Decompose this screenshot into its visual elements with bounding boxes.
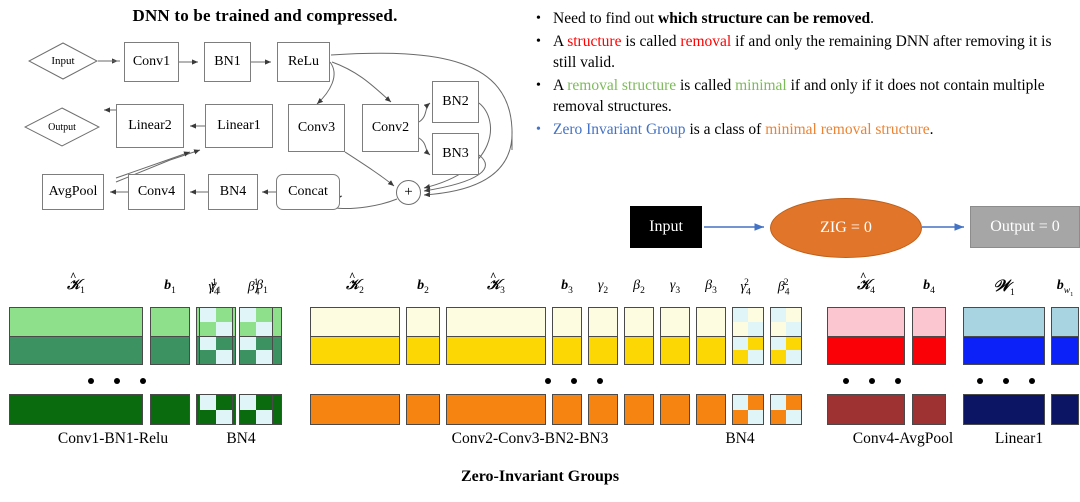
zig-block-half	[240, 336, 272, 365]
zig-block-half	[311, 336, 399, 365]
checker-cell	[256, 410, 272, 425]
checker-cell	[733, 308, 748, 322]
checker-cell	[256, 308, 272, 322]
zig-block-top[interactable]	[827, 307, 905, 365]
block-header-label: b1	[150, 278, 190, 296]
block-header-label: γ42	[732, 278, 764, 297]
zig-block-bottom[interactable]	[310, 394, 400, 425]
block-header-label: ^𝒦4	[827, 278, 905, 296]
zig-block-half	[151, 308, 189, 336]
zig-block-panel: ^𝒦1b1γ1β1Conv1-BN1-Reluγ41β41BN4^𝒦2b2^𝒦3…	[0, 0, 1080, 502]
checker-cell	[771, 350, 786, 364]
ellipsis-dots	[88, 378, 146, 384]
ellipsis-dot-icon	[571, 378, 577, 384]
zig-block-half	[1052, 308, 1078, 336]
checker-cell	[240, 322, 256, 336]
checker-cell	[200, 308, 216, 322]
zig-block-top[interactable]	[624, 307, 654, 365]
zig-block-half	[589, 308, 617, 336]
checker-cell	[240, 410, 256, 425]
zig-block-bottom[interactable]	[732, 394, 764, 425]
ellipsis-dot-icon	[1029, 378, 1035, 384]
checker-cell	[748, 350, 763, 364]
checker-grid	[771, 395, 801, 424]
checker-cell	[240, 337, 256, 351]
zig-block-half	[10, 336, 142, 365]
zig-block-top[interactable]	[588, 307, 618, 365]
block-header-label: ^𝒦3	[446, 278, 546, 296]
zig-block-half	[200, 308, 232, 336]
zig-block-bottom[interactable]	[552, 394, 582, 425]
zig-block-half	[697, 395, 725, 424]
checker-grid	[240, 308, 272, 336]
zig-block-half	[964, 308, 1044, 336]
zig-block-half	[625, 395, 653, 424]
checker-cell	[200, 337, 216, 351]
zig-group-label: Linear1	[958, 430, 1080, 448]
checker-cell	[748, 337, 763, 351]
zig-block-half	[697, 336, 725, 365]
ellipsis-dot-icon	[895, 378, 901, 384]
block-header-label: γ41	[199, 278, 233, 297]
zig-block-half	[407, 308, 439, 336]
checker-cell	[256, 337, 272, 351]
zig-block-bottom[interactable]	[660, 394, 690, 425]
zig-block-half	[828, 395, 904, 424]
zig-block-half	[589, 395, 617, 424]
zig-block-top[interactable]	[199, 307, 233, 365]
checker-grid	[733, 395, 763, 424]
zig-group-label: Conv2-Conv3-BN2-BN3	[400, 430, 660, 448]
zig-block-bottom[interactable]	[912, 394, 946, 425]
zig-block-half	[1052, 336, 1078, 365]
checker-cell	[786, 350, 801, 364]
zig-block-half	[733, 336, 763, 365]
zig-block-top[interactable]	[552, 307, 582, 365]
ellipsis-dot-icon	[114, 378, 120, 384]
checker-cell	[786, 395, 801, 410]
zig-group-label: BN4	[690, 430, 790, 448]
zig-block-half	[828, 308, 904, 336]
zig-block-bottom[interactable]	[588, 394, 618, 425]
zig-block-half	[311, 395, 399, 424]
checker-grid	[240, 337, 272, 365]
zig-block-bottom[interactable]	[963, 394, 1045, 425]
zig-block-bottom[interactable]	[770, 394, 802, 425]
block-header-label: γ2	[588, 278, 618, 296]
checker-cell	[216, 350, 232, 364]
zig-block-top[interactable]	[310, 307, 400, 365]
zig-block-half	[311, 308, 399, 336]
zig-block-top[interactable]	[912, 307, 946, 365]
checker-cell	[240, 350, 256, 364]
checker-cell	[733, 350, 748, 364]
checker-cell	[216, 395, 232, 410]
checker-cell	[786, 410, 801, 425]
zig-block-half	[828, 336, 904, 365]
zig-block-bottom[interactable]	[1051, 394, 1079, 425]
zig-block-top[interactable]	[732, 307, 764, 365]
dnn-node-label: Input	[51, 55, 74, 67]
zig-block-half	[625, 336, 653, 365]
ellipsis-dot-icon	[977, 378, 983, 384]
block-header-label: b2	[406, 278, 440, 296]
checker-cell	[216, 410, 232, 425]
zig-block-top[interactable]	[150, 307, 190, 365]
ellipsis-dot-icon	[545, 378, 551, 384]
zig-block-top[interactable]	[1051, 307, 1079, 365]
block-header-label: 𝒲1	[963, 278, 1045, 298]
zig-block-top[interactable]	[9, 307, 143, 365]
block-header-label: bw1	[1051, 278, 1079, 298]
zig-block-half	[964, 395, 1044, 424]
block-header-label: b3	[552, 278, 582, 296]
checker-cell	[240, 308, 256, 322]
zig-block-half	[553, 308, 581, 336]
zig-block-bottom[interactable]	[150, 394, 190, 425]
checker-cell	[733, 322, 748, 336]
block-header-label: β3	[696, 278, 726, 296]
zig-block-bottom[interactable]	[827, 394, 905, 425]
block-header-label: β41	[239, 278, 273, 297]
zig-block-top[interactable]	[239, 307, 273, 365]
zig-block-half	[661, 336, 689, 365]
checker-cell	[216, 337, 232, 351]
zig-block-half	[553, 336, 581, 365]
zig-block-half	[733, 308, 763, 336]
dnn-node-label: Output	[48, 122, 76, 133]
checker-grid	[200, 337, 232, 365]
ellipsis-dot-icon	[88, 378, 94, 384]
checker-grid	[771, 308, 801, 336]
zig-block-bottom[interactable]	[199, 394, 233, 425]
ellipsis-dot-icon	[869, 378, 875, 384]
ellipsis-dots	[977, 378, 1035, 384]
checker-cell	[748, 410, 763, 425]
ellipsis-dot-icon	[140, 378, 146, 384]
checker-cell	[771, 395, 786, 410]
zig-block-half	[1052, 395, 1078, 424]
zig-block-half	[447, 336, 545, 365]
checker-cell	[786, 308, 801, 322]
checker-cell	[733, 337, 748, 351]
zig-block-half	[553, 395, 581, 424]
checker-grid	[771, 337, 801, 365]
checker-cell	[200, 350, 216, 364]
checker-cell	[200, 322, 216, 336]
checker-cell	[771, 322, 786, 336]
zig-block-bottom[interactable]	[624, 394, 654, 425]
zig-block-half	[10, 308, 142, 336]
checker-grid	[733, 337, 763, 365]
checker-cell	[771, 410, 786, 425]
block-header-label: β2	[624, 278, 654, 296]
checker-grid	[200, 308, 232, 336]
checker-cell	[216, 308, 232, 322]
zig-block-half	[240, 308, 272, 336]
zig-block-top[interactable]	[660, 307, 690, 365]
checker-cell	[771, 308, 786, 322]
zig-block-half	[200, 336, 232, 365]
zig-group-label: BN4	[196, 430, 286, 448]
zig-block-half	[661, 395, 689, 424]
zig-block-bottom[interactable]	[239, 394, 273, 425]
zig-block-bottom[interactable]	[696, 394, 726, 425]
checker-cell	[748, 308, 763, 322]
checker-cell	[200, 395, 216, 410]
zig-block-half	[447, 395, 545, 424]
zig-block-half	[151, 395, 189, 424]
zig-block-half	[771, 336, 801, 365]
zig-block-half	[913, 336, 945, 365]
zig-block-half	[913, 395, 945, 424]
zig-block-bottom[interactable]	[406, 394, 440, 425]
zig-block-half	[964, 336, 1044, 365]
checker-cell	[200, 410, 216, 425]
checker-grid	[240, 395, 272, 424]
zig-block-top[interactable]	[770, 307, 802, 365]
zig-block-half	[151, 336, 189, 365]
checker-cell	[240, 395, 256, 410]
zig-block-top[interactable]	[696, 307, 726, 365]
checker-grid	[733, 308, 763, 336]
zig-block-top[interactable]	[446, 307, 546, 365]
zig-block-half	[407, 395, 439, 424]
checker-cell	[733, 410, 748, 425]
ellipsis-dot-icon	[1003, 378, 1009, 384]
zig-block-bottom[interactable]	[9, 394, 143, 425]
panel-caption: Zero-Invariant Groups	[0, 468, 1080, 486]
zig-block-top[interactable]	[406, 307, 440, 365]
checker-cell	[786, 337, 801, 351]
checker-cell	[256, 395, 272, 410]
checker-cell	[256, 322, 272, 336]
ellipsis-dots	[545, 378, 603, 384]
checker-cell	[733, 395, 748, 410]
checker-cell	[786, 322, 801, 336]
checker-grid	[200, 395, 232, 424]
zig-block-half	[697, 308, 725, 336]
checker-cell	[771, 337, 786, 351]
zig-block-bottom[interactable]	[446, 394, 546, 425]
zig-block-half	[625, 308, 653, 336]
zig-group-label: Conv1-BN1-Relu	[18, 430, 208, 448]
checker-cell	[748, 395, 763, 410]
block-header-label: ^𝒦1	[9, 278, 143, 296]
block-header-label: b4	[912, 278, 946, 296]
block-header-label: ^𝒦2	[310, 278, 400, 296]
zig-block-half	[661, 308, 689, 336]
block-header-label: β42	[770, 278, 802, 297]
zig-block-top[interactable]	[963, 307, 1045, 365]
zig-block-half	[589, 336, 617, 365]
zig-block-half	[407, 336, 439, 365]
ellipsis-dot-icon	[597, 378, 603, 384]
zig-block-half	[913, 308, 945, 336]
checker-cell	[216, 322, 232, 336]
block-header-label: γ3	[660, 278, 690, 296]
ellipsis-dot-icon	[843, 378, 849, 384]
zig-block-half	[447, 308, 545, 336]
checker-cell	[748, 322, 763, 336]
zig-block-half	[771, 308, 801, 336]
ellipsis-dots	[843, 378, 901, 384]
zig-block-half	[10, 395, 142, 424]
checker-cell	[256, 350, 272, 364]
